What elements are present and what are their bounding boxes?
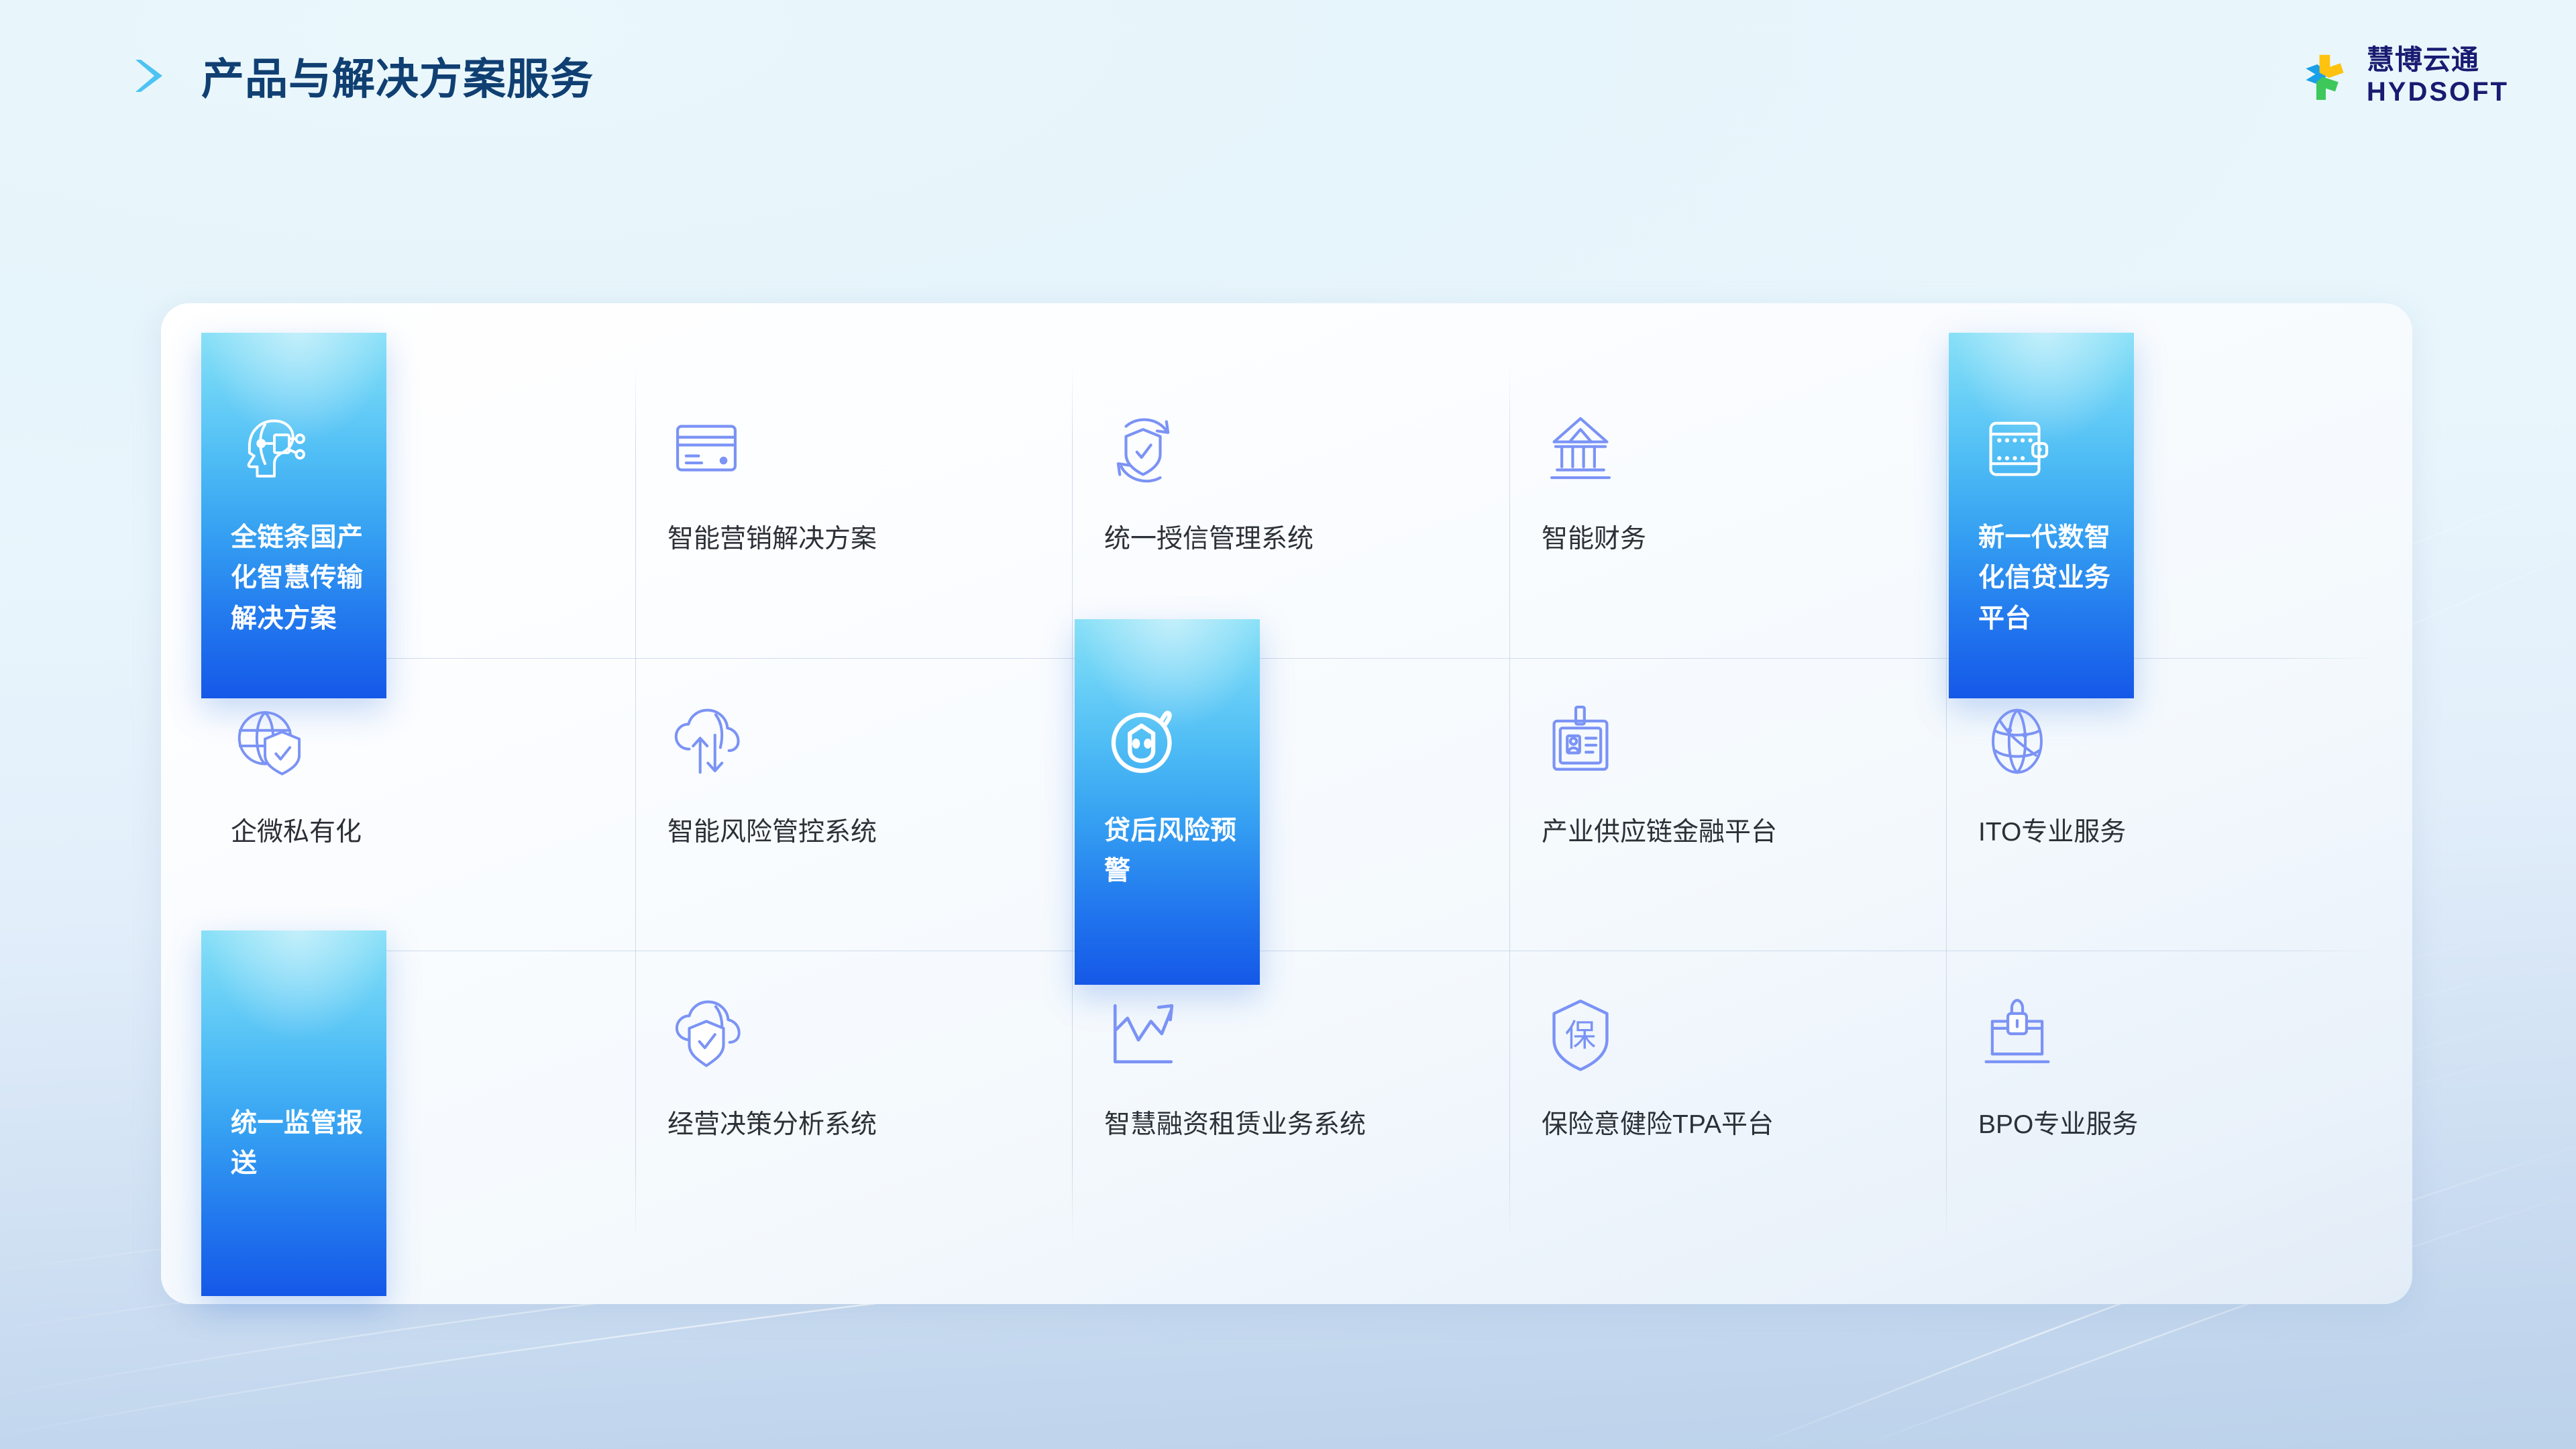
product-card[interactable]: 产业供应链金融平台 [1509, 658, 1946, 951]
product-card-label: 统一授信管理系统 [1104, 518, 1482, 560]
product-card-label: 智能营销解决方案 [667, 518, 1045, 560]
product-card-label: 智慧融资租赁业务系统 [1104, 1104, 1482, 1146]
cloud-shield-check-icon [667, 995, 745, 1073]
brand-name-cn: 慧博云通 [2367, 46, 2509, 74]
chevron-right-icon [131, 57, 178, 95]
brand-name-en: HYDSOFT [2367, 78, 2509, 105]
cloud-sync-arrows-icon [667, 702, 745, 780]
product-card-label: 企微私有化 [231, 811, 608, 853]
chart-trend-up-icon [1104, 995, 1182, 1073]
product-card[interactable]: 智能风险管控系统 [635, 658, 1072, 951]
product-card[interactable]: 智慧融资租赁业务系统 [1072, 951, 1509, 1244]
globe-shield-icon [231, 702, 309, 780]
bank-building-icon [1542, 409, 1619, 487]
product-card-label: 全链条国产化智慧传输解决方案 [231, 518, 366, 639]
product-card-label: 经营决策分析系统 [667, 1104, 1045, 1146]
product-card-label: 保险意健险TPA平台 [1542, 1104, 1919, 1146]
product-card[interactable]: 企微私有化 [199, 658, 635, 951]
product-card-highlighted[interactable]: 统一监管报送 [201, 930, 386, 1296]
product-card-label: 贷后风险预警 [1104, 811, 1240, 892]
page-header: 产品与解决方案服务 慧博云通 HYDSOFT [0, 0, 2576, 114]
product-card-label: 智能风险管控系统 [667, 811, 1045, 853]
shield-check-refresh-icon [1104, 409, 1182, 487]
id-badge-icon [1542, 702, 1619, 780]
product-card-highlighted[interactable]: 新一代数智化信贷业务平台 [1949, 333, 2134, 698]
product-card[interactable]: 统一授信管理系统 [1072, 365, 1509, 658]
product-card-label: BPO专业服务 [1978, 1104, 2356, 1146]
product-card[interactable]: BPO专业服务 [1946, 951, 2383, 1244]
robot-face-icon [1104, 702, 1182, 780]
product-card[interactable]: 保险意健险TPA平台 [1509, 951, 1946, 1244]
product-card[interactable]: 经营决策分析系统 [635, 951, 1072, 1244]
brand-logo: 慧博云通 HYDSOFT [2300, 46, 2509, 105]
shield-bao-icon [1542, 995, 1619, 1073]
product-card-highlighted[interactable]: 贷后风险预警 [1075, 619, 1260, 985]
product-card[interactable]: 智能营销解决方案 [635, 365, 1072, 658]
product-grid: 全链条国产化智慧传输解决方案智能营销解决方案统一授信管理系统智能财务新一代数智化… [199, 365, 2383, 1244]
globe-network-icon [1978, 702, 2056, 780]
product-card-label: 智能财务 [1542, 518, 1919, 560]
product-card-label: 新一代数智化信贷业务平台 [1978, 518, 2114, 639]
product-card-label: 统一监管报送 [231, 1104, 366, 1185]
hydsoft-pinwheel-logo-icon [2300, 50, 2352, 102]
credit-card-icon [667, 409, 745, 487]
ai-head-network-icon [231, 409, 309, 487]
product-card[interactable]: 智能财务 [1509, 365, 1946, 658]
product-card[interactable]: ITO专业服务 [1946, 658, 2383, 951]
page-title: 产品与解决方案服务 [201, 45, 594, 107]
content-panel: 全链条国产化智慧传输解决方案智能营销解决方案统一授信管理系统智能财务新一代数智化… [161, 303, 2412, 1304]
product-card-label: 产业供应链金融平台 [1542, 811, 1919, 853]
wallet-icon [1978, 409, 2056, 487]
product-card-label: ITO专业服务 [1978, 811, 2356, 853]
product-card-highlighted[interactable]: 全链条国产化智慧传输解决方案 [201, 333, 386, 698]
laptop-lock-icon [1978, 995, 2056, 1073]
